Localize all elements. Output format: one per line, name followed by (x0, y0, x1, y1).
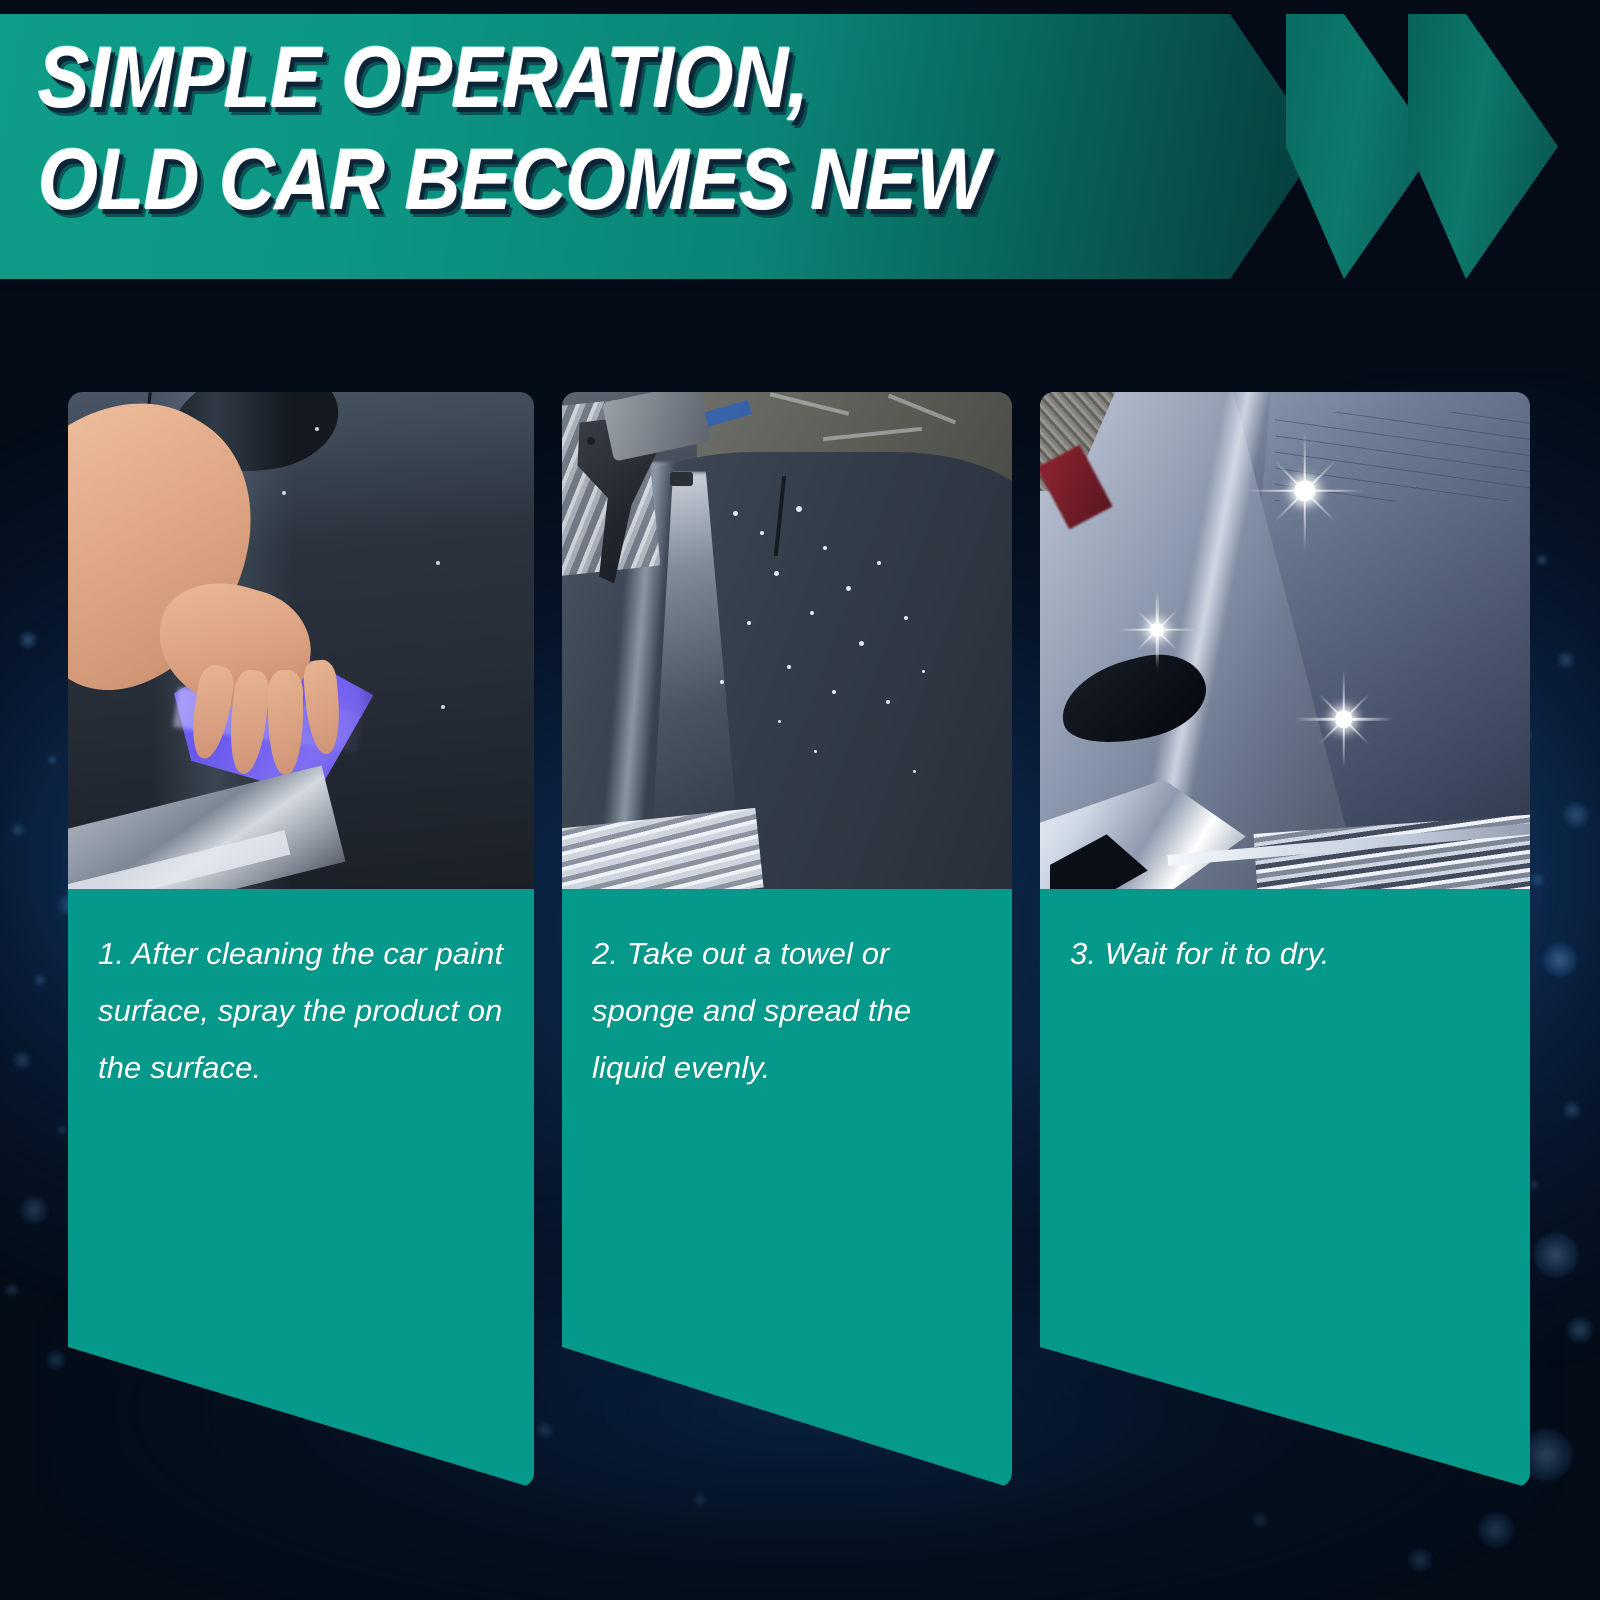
step-photo-2 (562, 392, 1012, 889)
infographic-root: SIMPLE OPERATION, OLD CAR BECOMES NEW (0, 0, 1600, 1600)
step-text-2: 2. Take out a towel or sponge and spread… (562, 889, 1012, 1096)
step-card-3: 3. Wait for it to dry. (1040, 392, 1530, 1487)
step-card-1: 1. After cleaning the car paint surface,… (68, 392, 534, 1487)
step-text-3: 3. Wait for it to dry. (1040, 889, 1530, 982)
step-card-2: 2. Take out a towel or sponge and spread… (562, 392, 1012, 1487)
page-title: SIMPLE OPERATION, OLD CAR BECOMES NEW (38, 32, 1218, 226)
header-banner: SIMPLE OPERATION, OLD CAR BECOMES NEW (0, 0, 1600, 292)
title-line-2: OLD CAR BECOMES NEW (38, 134, 1100, 226)
title-line-1: SIMPLE OPERATION, (38, 32, 1100, 124)
step-photo-3 (1040, 392, 1530, 889)
step-text-1: 1. After cleaning the car paint surface,… (68, 889, 534, 1096)
step-photo-1 (68, 392, 534, 889)
